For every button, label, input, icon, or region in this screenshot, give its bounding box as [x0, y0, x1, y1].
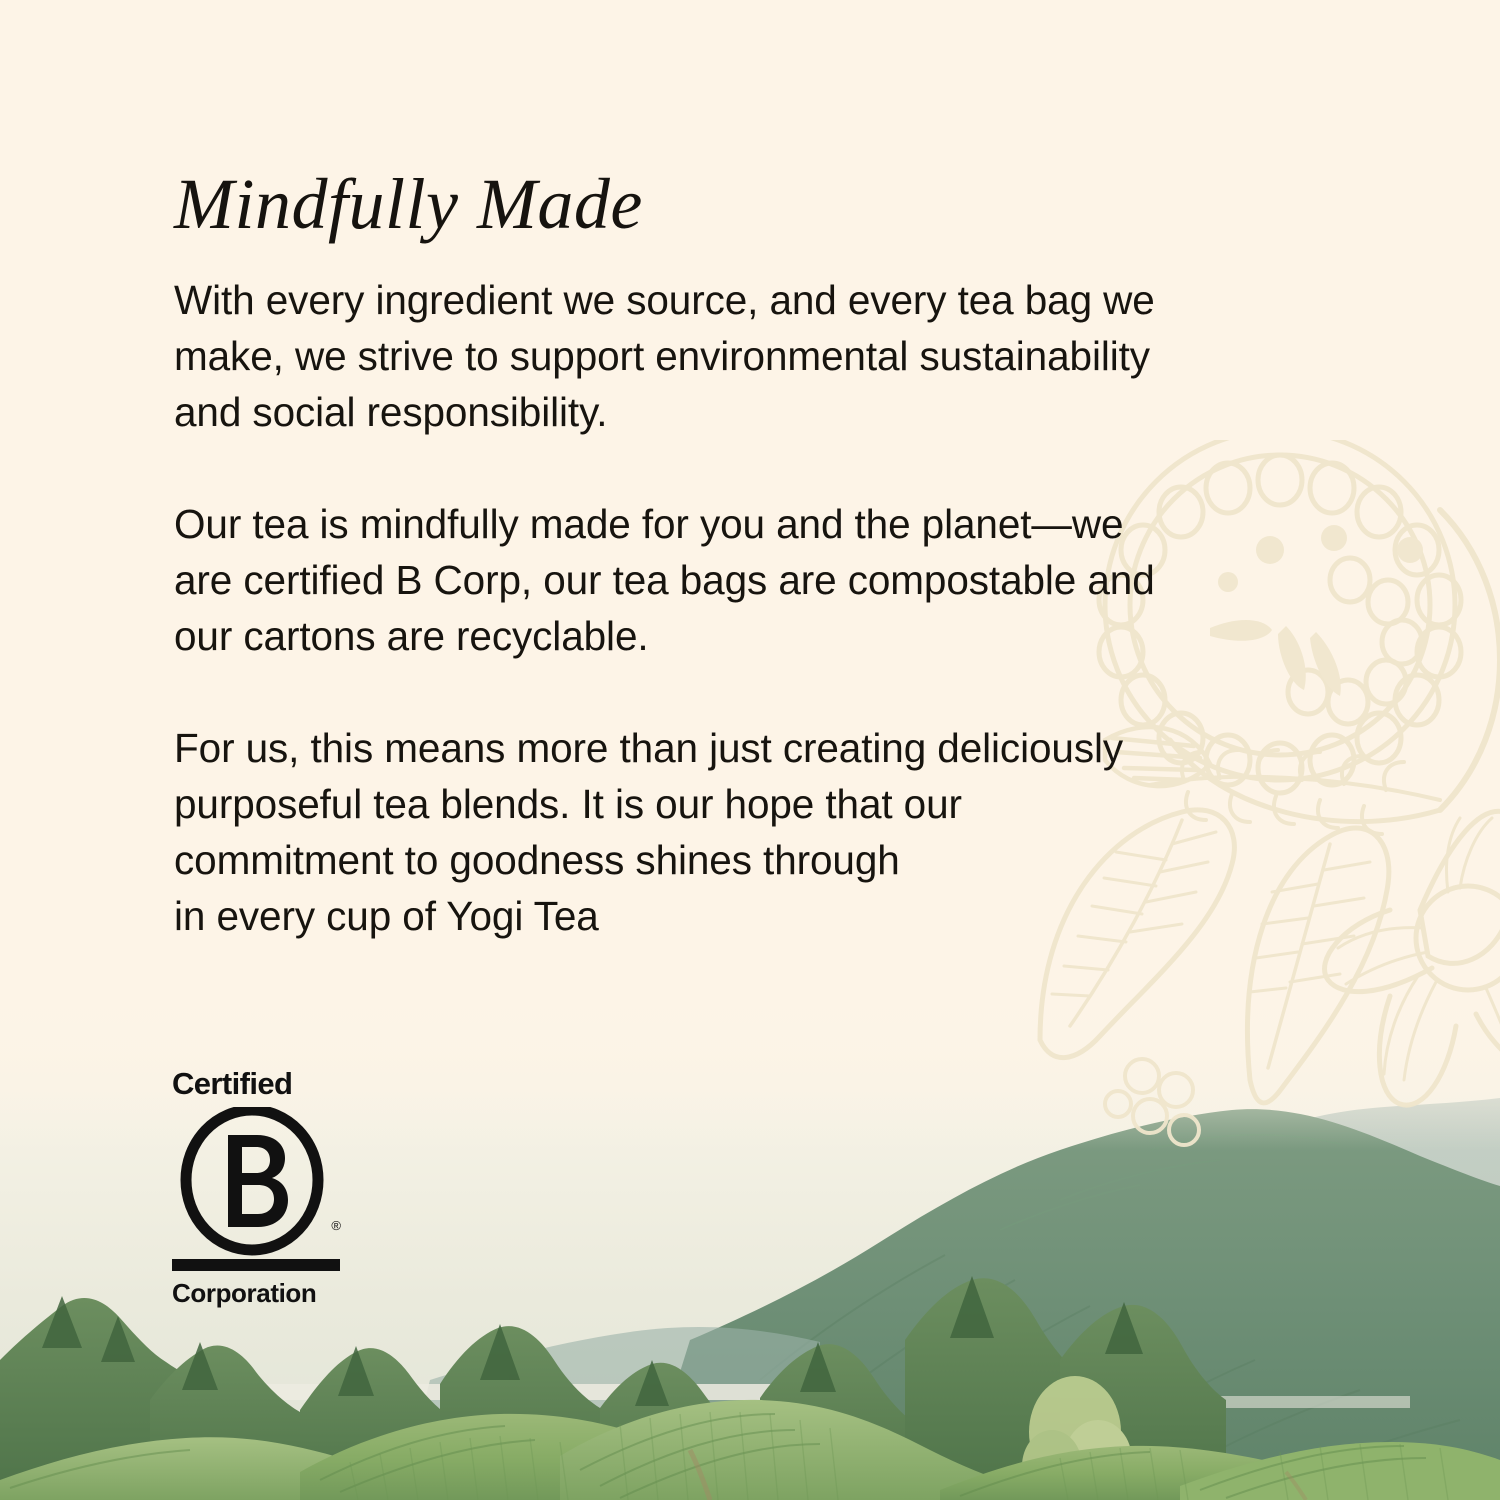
paragraph-1-line-2: make, we strive to support environmental… [174, 328, 1344, 384]
paragraph-3: For us, this means more than just creati… [174, 720, 1344, 944]
paragraph-1: With every ingredient we source, and eve… [174, 272, 1344, 440]
page-title: Mindfully Made [174, 168, 643, 240]
registered-trademark-icon: ® [331, 1218, 341, 1233]
page-root: Mindfully Made With every ingredient we … [0, 0, 1500, 1500]
paragraph-2-line-2: are certified B Corp, our tea bags are c… [174, 552, 1344, 608]
paragraph-3-line-3: commitment to goodness shines through [174, 832, 1344, 888]
paragraph-2-line-1: Our tea is mindfully made for you and th… [174, 496, 1344, 552]
bcorp-corporation-label: Corporation [172, 1280, 348, 1306]
paragraph-3-line-4: in every cup of Yogi Tea [174, 888, 1344, 944]
body-copy: With every ingredient we source, and eve… [174, 272, 1344, 944]
paragraph-1-line-3: and social responsibility. [174, 384, 1344, 440]
paragraph-2: Our tea is mindfully made for you and th… [174, 496, 1344, 664]
paragraph-1-line-1: With every ingredient we source, and eve… [174, 272, 1344, 328]
paragraph-2-line-3: our cartons are recyclable. [174, 608, 1344, 664]
b-corp-mark-icon: ® [172, 1107, 348, 1257]
bcorp-certified-label: Certified [172, 1068, 348, 1099]
paragraph-3-line-2: purposeful tea blends. It is our hope th… [174, 776, 1344, 832]
bcorp-divider-rule [172, 1259, 340, 1271]
certified-b-corporation-logo: Certified ® Corporation [172, 1068, 348, 1306]
paragraph-3-line-1: For us, this means more than just creati… [174, 720, 1344, 776]
